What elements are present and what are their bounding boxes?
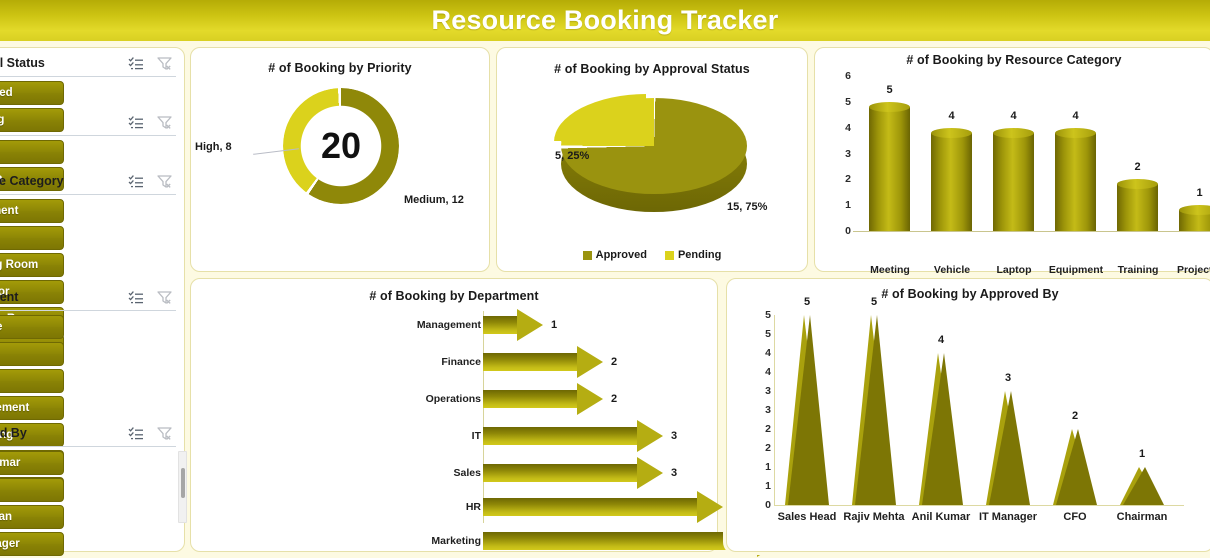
chart-panel-approved-by: # of Booking by Approved By 01122334455 … — [726, 278, 1210, 552]
bar-value-label: 1 — [1179, 187, 1210, 199]
category-label: Management — [281, 316, 481, 334]
bar-cap — [869, 102, 910, 112]
cone-dark-face — [788, 315, 829, 505]
bar-arrow-head — [577, 346, 603, 378]
slicer-header: Department — [0, 284, 176, 311]
slicer-title: Approval Status — [0, 56, 128, 70]
slicer-header: Priority — [0, 109, 176, 136]
slicer-item-list: Anil KumarCFOChairmanIT ManagerRajiv Meh… — [0, 447, 187, 558]
clear-filter-icon — [156, 290, 173, 305]
cone-dark-face — [989, 391, 1030, 505]
bar-cap — [931, 128, 972, 138]
clear-filter-button[interactable] — [156, 56, 173, 71]
multi-select-button[interactable] — [128, 56, 145, 71]
bar-value-label: 2 — [611, 353, 617, 371]
slicer-title: Approved By — [0, 426, 128, 440]
legend-item-pending: Pending — [665, 249, 721, 261]
legend-swatch-approved — [583, 251, 592, 260]
category-label: Vehicle — [919, 264, 985, 276]
category-label: Laptop — [981, 264, 1047, 276]
category-label: Finance — [281, 353, 481, 371]
y-tick-label: 3 — [765, 404, 771, 416]
bar-meeting-room — [869, 102, 910, 231]
legend-label-approved: Approved — [596, 249, 647, 261]
multi-select-button[interactable] — [128, 115, 145, 130]
bar-value-label: 4 — [931, 110, 972, 122]
chart-panel-resource-category: # of Booking by Resource Category 012345… — [814, 47, 1210, 272]
y-tick-label: 5 — [845, 96, 851, 108]
bar-body — [1117, 184, 1158, 231]
category-label: Equipment — [1043, 264, 1109, 276]
y-tick-label: 4 — [845, 122, 851, 134]
y-axis-approved-by: 01122334455 — [749, 315, 771, 505]
slicer-sidebar: Approval StatusApprovedPendingPriorityHi… — [0, 47, 185, 552]
clear-filter-button[interactable] — [156, 290, 173, 305]
bar-shaft — [483, 498, 697, 516]
slicer-header: Approved By — [0, 420, 176, 447]
bar-cap — [993, 128, 1034, 138]
donut-total-label: 20 — [283, 88, 399, 204]
y-tick-label: 1 — [765, 461, 771, 473]
data-label-medium: Medium, 12 — [404, 193, 474, 207]
cone-anil-kumar — [919, 353, 963, 505]
slicer-scrollbar-thumb[interactable] — [181, 468, 185, 498]
category-label: Projector — [1167, 264, 1210, 276]
pie-slice-pending — [554, 94, 740, 190]
data-label-high: High, 8 — [195, 141, 232, 153]
slicer-icon-group — [128, 115, 176, 130]
chart-legend-approval-status: Approved Pending — [497, 249, 807, 261]
y-axis-department — [483, 311, 484, 523]
clear-filter-icon — [156, 56, 173, 71]
y-tick-label: 4 — [765, 366, 771, 378]
clear-filter-icon — [156, 115, 173, 130]
cone-value-label: 3 — [986, 372, 1030, 384]
bar-shaft — [483, 390, 577, 408]
chart-title-department: # of Booking by Department — [191, 289, 717, 303]
slicer-item-it[interactable]: IT — [0, 369, 64, 393]
slicer-approved-by: Approved ByAnil KumarCFOChairmanIT Manag… — [0, 420, 184, 558]
chart-panel-approval-status: # of Booking by Approval Status 5, 25% 1… — [496, 47, 808, 272]
x-axis-approved-by — [774, 505, 1184, 506]
cone-value-label: 5 — [785, 296, 829, 308]
clear-filter-button[interactable] — [156, 426, 173, 441]
slicer-item-high[interactable]: High — [0, 140, 64, 164]
y-axis-resource-category: 0123456 — [823, 76, 851, 231]
bar-shaft — [483, 353, 577, 371]
slicer-header: Resource Category — [0, 168, 176, 195]
slicer-item-meeting-room[interactable]: Meeting Room — [0, 253, 64, 277]
y-tick-label: 6 — [845, 70, 851, 82]
category-label: HR — [281, 498, 481, 516]
cone-value-label: 1 — [1120, 448, 1164, 460]
slicer-icon-group — [128, 290, 176, 305]
bar-value-label: 5 — [869, 84, 910, 96]
y-tick-label: 0 — [845, 225, 851, 237]
bar-value-label: 1 — [551, 316, 557, 334]
slicer-title: Resource Category — [0, 174, 128, 188]
chart-title-resource-category: # of Booking by Resource Category — [815, 53, 1210, 67]
slicer-item-chairman[interactable]: Chairman — [0, 505, 64, 529]
y-tick-label: 2 — [765, 442, 771, 454]
cone-it-manager — [986, 391, 1030, 505]
dashboard-root: Resource Booking Tracker Approval Status… — [0, 0, 1210, 558]
category-label: Marketing — [281, 532, 481, 550]
chart-title-approval-status: # of Booking by Approval Status — [497, 62, 807, 76]
bar-arrow-head — [637, 457, 663, 489]
bar-projector — [1179, 205, 1210, 231]
bar-training-room — [1117, 179, 1158, 231]
clear-filter-button[interactable] — [156, 174, 173, 189]
cone-sales-head — [785, 315, 829, 505]
bar-shaft — [483, 464, 637, 482]
bar-value-label: 2 — [611, 390, 617, 408]
bar-arrow-head — [577, 383, 603, 415]
bar-body — [931, 133, 972, 231]
cone-cfo — [1053, 429, 1097, 505]
slicer-item-it-manager[interactable]: IT Manager — [0, 532, 64, 556]
cone-value-label: 2 — [1053, 410, 1097, 422]
multi-select-button[interactable] — [128, 426, 145, 441]
cone-value-label: 5 — [852, 296, 896, 308]
bar-arrow-head — [637, 420, 663, 452]
data-label-pending: 5, 25% — [555, 150, 589, 162]
bar-value-label: 3 — [671, 464, 677, 482]
clear-filter-button[interactable] — [156, 115, 173, 130]
y-tick-label: 3 — [765, 385, 771, 397]
slicer-icon-group — [128, 426, 176, 441]
chart-title-priority: # of Booking by Priority — [191, 61, 489, 75]
multi-select-button[interactable] — [128, 174, 145, 189]
bar-body — [869, 107, 910, 231]
y-tick-label: 2 — [765, 423, 771, 435]
legend-item-approved: Approved — [583, 249, 647, 261]
bar-value-label: 4 — [993, 110, 1034, 122]
clear-filter-icon — [156, 174, 173, 189]
y-tick-label: 0 — [765, 499, 771, 511]
category-label: Operations — [281, 390, 481, 408]
slicer-item-cfo[interactable]: CFO — [0, 478, 64, 502]
cone-value-label: 4 — [919, 334, 963, 346]
multi-select-icon — [128, 426, 145, 441]
slicer-item-finance[interactable]: Finance — [0, 315, 64, 339]
cone-dark-face — [922, 353, 963, 505]
cone-dark-face — [855, 315, 896, 505]
bar-shaft — [483, 427, 637, 445]
bar-value-label: 4 — [1055, 110, 1096, 122]
multi-select-icon — [128, 290, 145, 305]
slicer-item-hr[interactable]: HR — [0, 342, 64, 366]
x-axis-resource-category — [853, 231, 1210, 232]
chart-panel-priority: # of Booking by Priority 20 High, 8 Medi… — [190, 47, 490, 272]
multi-select-icon — [128, 174, 145, 189]
bar-body — [1055, 133, 1096, 231]
bar-vehicle — [931, 128, 972, 231]
y-tick-label: 3 — [845, 148, 851, 160]
plot-area-resource-category: 5MeetingRoom4Vehicle4Laptop4Equipment2Tr… — [855, 76, 1210, 231]
multi-select-button[interactable] — [128, 290, 145, 305]
legend-label-pending: Pending — [678, 249, 721, 261]
category-label: Sales — [281, 464, 481, 482]
bar-shaft — [483, 532, 757, 550]
slicer-item-equipment[interactable]: Equipment — [0, 199, 64, 223]
clear-filter-icon — [156, 426, 173, 441]
y-tick-label: 5 — [765, 309, 771, 321]
cone-rajiv-mehta — [852, 315, 896, 505]
bar-value-label: 2 — [1117, 161, 1158, 173]
slicer-item-laptop[interactable]: Laptop — [0, 226, 64, 250]
slicer-icon-group — [128, 56, 176, 71]
bar-body — [993, 133, 1034, 231]
dashboard-title-bar: Resource Booking Tracker — [0, 0, 1210, 41]
multi-select-icon — [128, 115, 145, 130]
chart-panel-department: # of Booking by Department Management1Fi… — [190, 278, 718, 552]
y-axis-line-approved-by — [774, 315, 775, 505]
slicer-item-anil-kumar[interactable]: Anil Kumar — [0, 451, 64, 475]
bar-arrow-head — [697, 491, 723, 523]
category-label: Chairman — [1098, 511, 1186, 523]
category-label: IT — [281, 427, 481, 445]
page-title: Resource Booking Tracker — [432, 5, 779, 36]
bar-cap — [1055, 128, 1096, 138]
slicer-title: Department — [0, 290, 128, 304]
y-tick-label: 1 — [765, 480, 771, 492]
legend-swatch-pending — [665, 251, 674, 260]
y-tick-label: 1 — [845, 199, 851, 211]
donut-chart-priority: 20 High, 8 Medium, 12 — [191, 78, 491, 273]
bar-laptop — [993, 128, 1034, 231]
data-label-approved: 15, 75% — [727, 201, 767, 213]
bar-equipment — [1055, 128, 1096, 231]
bar-shaft — [483, 316, 517, 334]
slicer-title: Priority — [0, 115, 128, 129]
slicer-item-approved[interactable]: Approved — [0, 81, 64, 105]
cone-dark-face — [1056, 429, 1097, 505]
bar-value-label: 3 — [671, 427, 677, 445]
y-tick-label: 4 — [765, 347, 771, 359]
multi-select-icon — [128, 56, 145, 71]
slicer-item-management[interactable]: Management — [0, 396, 64, 420]
slicer-header: Approval Status — [0, 50, 176, 77]
cone-dark-face — [1123, 467, 1164, 505]
y-tick-label: 5 — [765, 328, 771, 340]
cone-chairman — [1120, 467, 1164, 505]
slicer-icon-group — [128, 174, 176, 189]
slicer-scrollbar[interactable] — [178, 451, 187, 523]
y-tick-label: 2 — [845, 173, 851, 185]
bar-arrow-head — [517, 309, 543, 341]
